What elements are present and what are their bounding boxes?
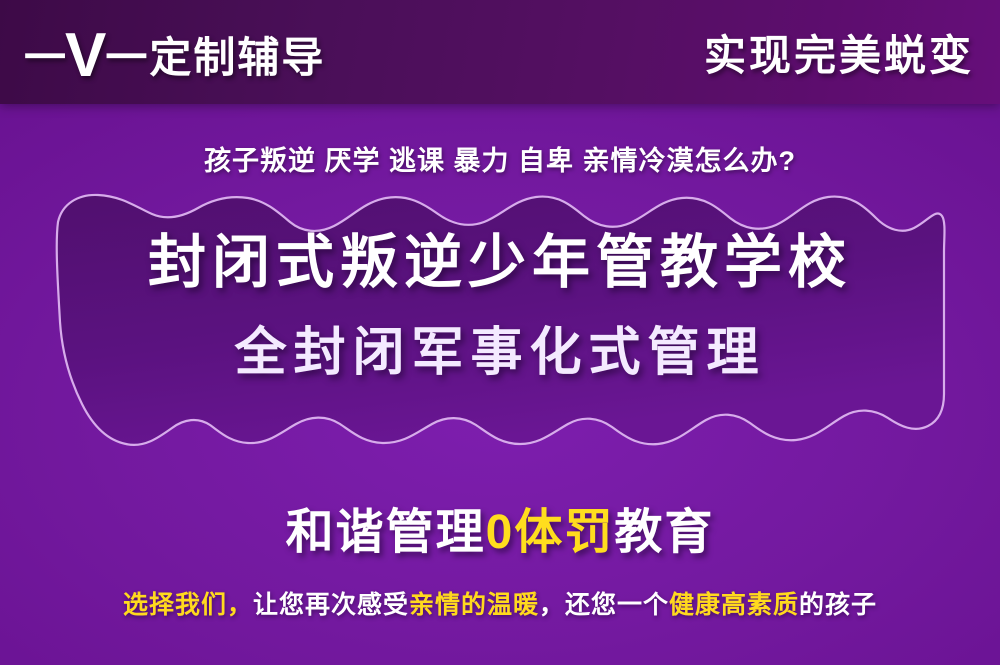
promo-poster: 一 V 一定制辅导 实现完美蜕变 孩子叛逆 厌学 逃课 暴力 自卑 亲情冷漠怎么… <box>0 0 1000 665</box>
tagline-seg-2: 让您再次感受 <box>253 591 409 619</box>
brand-logo: 一 V 一定制辅导 <box>24 21 325 83</box>
tagline-seg-5: 健康高素质 <box>669 591 799 619</box>
header-slogan: 实现完美蜕变 <box>704 22 974 83</box>
question-line: 孩子叛逆 厌学 逃课 暴力 自卑 亲情冷漠怎么办? <box>0 139 1000 178</box>
bottom-tagline: 选择我们，让您再次感受亲情的温暖，还您一个健康高素质的孩子 <box>0 585 1000 621</box>
punch-part-one: 和谐管理 <box>286 506 486 559</box>
punch-highlight: 0体罚 <box>486 506 615 559</box>
brand-v-letter: V <box>65 25 107 87</box>
brand-label: 一定制辅导 <box>105 37 325 79</box>
punch-line: 和谐管理0体罚教育 <box>0 492 1000 562</box>
punch-part-two: 教育 <box>614 506 714 559</box>
tagline-seg-3: 亲情的温暖 <box>409 591 539 619</box>
brand-dash-left-icon: 一 <box>24 37 67 79</box>
tagline-seg-1: 选择我们， <box>123 591 253 619</box>
wavy-blob-shape <box>52 182 948 474</box>
tagline-seg-6: 的孩子 <box>799 591 877 619</box>
header-bar: 一 V 一定制辅导 实现完美蜕变 <box>0 0 1000 104</box>
tagline-seg-4: ，还您一个 <box>539 591 669 619</box>
